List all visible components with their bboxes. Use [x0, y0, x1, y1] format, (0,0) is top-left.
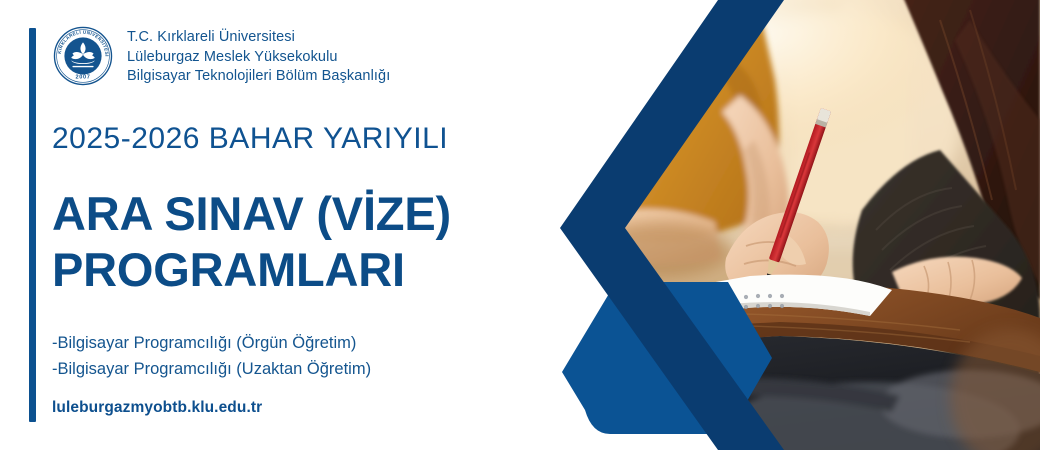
organisation-lines: T.C. Kırklareli Üniversitesi Lüleburgaz … — [127, 25, 390, 87]
page-title-line-2: PROGRAMLARI — [52, 242, 451, 298]
org-line-university: T.C. Kırklareli Üniversitesi — [127, 28, 390, 48]
left-accent-bar — [29, 28, 36, 422]
svg-text:2007: 2007 — [76, 74, 91, 80]
exam-schedule-banner: KIRKLARELİ ÜNİVERSİTESİ 2007 T.C. Kırkla… — [0, 0, 1040, 450]
semester-label: 2025-2026 BAHAR YARIYILI — [52, 120, 448, 158]
page-title: ARA SINAV (VİZE) PROGRAMLARI — [52, 186, 451, 298]
program-list: -Bilgisayar Programcılığı (Örgün Öğretim… — [52, 330, 371, 382]
page-title-line-1: ARA SINAV (VİZE) — [52, 186, 451, 242]
org-line-school: Lüleburgaz Meslek Yüksekokulu — [127, 48, 390, 68]
banner-artwork — [540, 0, 1040, 450]
artwork-svg — [540, 0, 1040, 450]
list-item: -Bilgisayar Programcılığı (Uzaktan Öğret… — [52, 356, 371, 382]
website-url[interactable]: luleburgazmyobtb.klu.edu.tr — [52, 399, 262, 417]
list-item: -Bilgisayar Programcılığı (Örgün Öğretim… — [52, 330, 371, 356]
org-line-department: Bilgisayar Teknolojileri Bölüm Başkanlığ… — [127, 67, 390, 87]
kirklareli-university-seal-icon: KIRKLARELİ ÜNİVERSİTESİ 2007 — [52, 25, 114, 87]
institution-header: KIRKLARELİ ÜNİVERSİTESİ 2007 T.C. Kırkla… — [52, 25, 390, 87]
